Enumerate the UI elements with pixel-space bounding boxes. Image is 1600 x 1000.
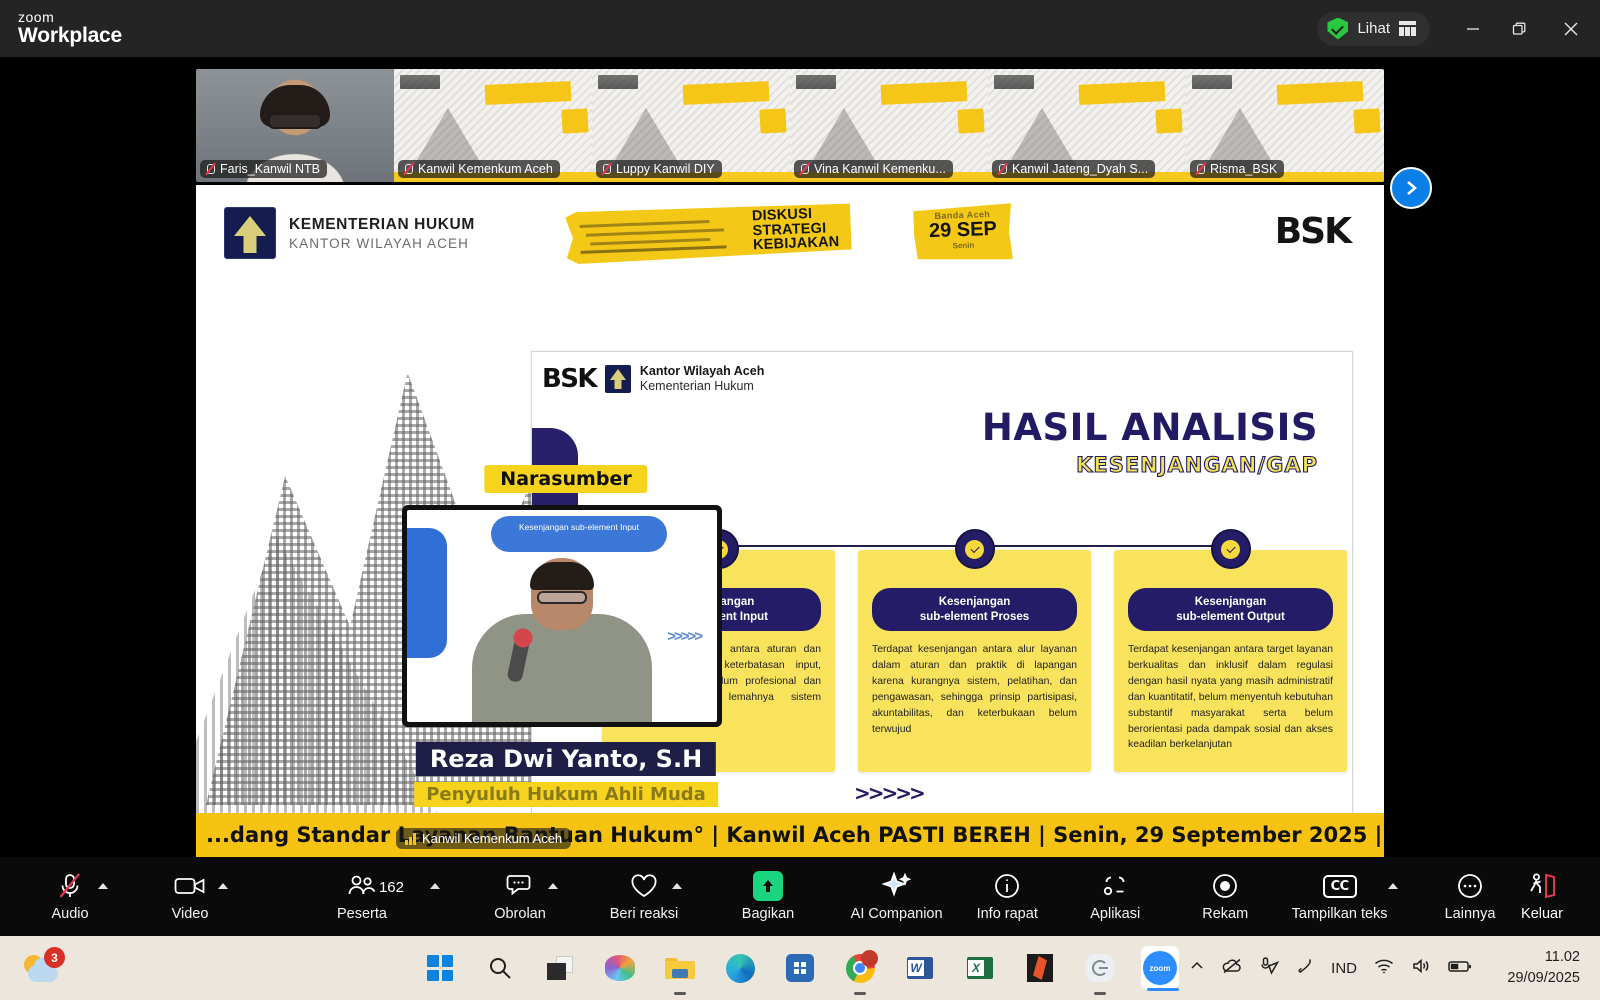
toolbar-label: Tampilkan teks xyxy=(1292,906,1388,922)
taskbar-excel-button[interactable]: X xyxy=(961,949,999,987)
toolbar-label: Peserta xyxy=(337,906,387,922)
word-icon: W xyxy=(907,954,933,982)
bsk-brand-mark: BSK xyxy=(1275,211,1350,252)
toolbar-button-apps[interactable]: Aplikasi xyxy=(1079,857,1151,936)
participant-name: Kanwil Jateng_Dyah S... xyxy=(1012,162,1148,176)
presenter-overlay: Narasumber Kesenjangan sub-element Input… xyxy=(396,457,736,857)
taskbar-zoom-button[interactable]: zoom xyxy=(1141,949,1179,987)
microphone-muted-icon xyxy=(204,163,216,176)
workplace-wordmark: Workplace xyxy=(18,25,122,47)
event-date-tape: Banda Aceh 29 SEP Senin xyxy=(913,203,1013,262)
next-page-arrow-icon[interactable] xyxy=(1390,167,1432,209)
closed-captions-icon: CC xyxy=(1323,871,1357,901)
apps-icon xyxy=(1101,871,1129,901)
chevron-up-icon[interactable] xyxy=(98,883,108,889)
pdf-icon xyxy=(1027,954,1053,982)
minimize-button[interactable] xyxy=(1450,0,1496,57)
view-layout-button[interactable]: Lihat xyxy=(1317,12,1430,46)
toolbar-button-record[interactable]: Rekam xyxy=(1189,857,1261,936)
garuda-emblem-icon xyxy=(224,207,276,259)
clock-time: 11.02 xyxy=(1507,947,1580,968)
participant-thumbnail[interactable]: Kanwil Jateng_Dyah S... xyxy=(988,69,1186,182)
participant-name-pill: Vina Kanwil Kemenku... xyxy=(794,160,953,178)
participant-name: Risma_BSK xyxy=(1210,162,1277,176)
participants-icon xyxy=(347,871,377,901)
toolbar-label: Keluar xyxy=(1521,906,1563,922)
toolbar-button-audio[interactable]: Audio xyxy=(34,857,106,936)
camera-icon xyxy=(174,871,206,901)
deck-title: HASIL ANALISIS xyxy=(982,406,1318,449)
shared-screen[interactable]: KEMENTERIAN HUKUM KANTOR WILAYAH ACEH DI… xyxy=(196,185,1384,857)
participant-name: Kanwil Kemenkum Aceh xyxy=(418,162,553,176)
card-heading-line1: Kesenjangan xyxy=(1136,595,1325,610)
gap-card: Kesenjangan sub-element Output Terdapat … xyxy=(1114,550,1347,772)
windows-logo-icon xyxy=(427,955,453,981)
zoom-toolbar: Audio Video Peserta 162 xyxy=(0,857,1600,936)
microphone-muted-icon xyxy=(1194,163,1206,176)
deck-org-line1: Kantor Wilayah Aceh xyxy=(640,364,764,379)
slide-side-shape xyxy=(407,528,447,658)
toolbar-button-meeting-info[interactable]: Info rapat xyxy=(971,857,1043,936)
toolbar-button-video[interactable]: Video xyxy=(154,857,226,936)
window-controls-group: Lihat xyxy=(1317,0,1600,57)
title-bar: zoom Workplace Lihat xyxy=(0,0,1600,57)
edge-icon xyxy=(726,954,755,983)
toolbar-button-ai-companion[interactable]: AI Companion xyxy=(856,857,937,936)
microphone-muted-icon xyxy=(57,871,83,901)
leave-meeting-icon xyxy=(1527,871,1557,901)
taskbar-copilot-button[interactable] xyxy=(601,949,639,987)
toolbar-button-reactions[interactable]: Beri reaksi xyxy=(608,857,680,936)
card-heading-line2: sub-element Output xyxy=(1136,610,1325,625)
taskbar-search-button[interactable] xyxy=(481,949,519,987)
inner-slide-caption: Kesenjangan sub-element Input xyxy=(491,516,667,552)
card-body-text: Terdapat kesenjangan antara target layan… xyxy=(1128,642,1333,753)
view-label: Lihat xyxy=(1357,20,1390,37)
chat-bubble-icon xyxy=(506,871,534,901)
deck-org-text: Kantor Wilayah Aceh Kementerian Hukum xyxy=(640,364,764,394)
deck-bsk-logo: BSK xyxy=(542,364,596,394)
taskbar-store-button[interactable] xyxy=(781,949,819,987)
toolbar-label: Aplikasi xyxy=(1090,906,1140,922)
participant-thumbnail[interactable]: Luppy Kanwil DIY xyxy=(592,69,790,182)
event-title-text: DISKUSI STRATEGI KEBIJAKAN xyxy=(752,206,840,254)
more-ellipsis-icon xyxy=(1456,871,1484,901)
zoom-icon: zoom xyxy=(1141,946,1179,990)
toolbar-button-participants[interactable]: Peserta 162 xyxy=(326,857,398,936)
participant-thumbnail[interactable]: Risma_BSK xyxy=(1186,69,1384,182)
deck-org-line2: Kementerian Hukum xyxy=(640,379,764,394)
info-icon xyxy=(993,871,1021,901)
toolbar-label: Rekam xyxy=(1202,906,1248,922)
toolbar-button-captions[interactable]: CC Tampilkan teks xyxy=(1297,857,1382,936)
folder-icon xyxy=(665,956,695,980)
card-body-text: Terdapat kesenjangan antara alur layanan… xyxy=(872,642,1077,737)
heart-icon xyxy=(630,871,658,901)
taskbar-word-button[interactable]: W xyxy=(901,949,939,987)
shield-check-icon xyxy=(1327,18,1348,40)
participant-name-pill: Kanwil Jateng_Dyah S... xyxy=(992,160,1155,178)
toolbar-label: Video xyxy=(172,906,209,922)
search-icon xyxy=(487,955,513,981)
screen-sharer-pill: Kanwil Kemenkum Aceh xyxy=(396,828,571,849)
zoom-wordmark: zoom xyxy=(18,10,122,25)
view-layout-icon xyxy=(1399,21,1416,36)
taskbar-pdf-button[interactable] xyxy=(1021,949,1059,987)
garuda-emblem-icon xyxy=(605,365,631,393)
record-icon xyxy=(1211,871,1239,901)
system-tray: IND xyxy=(1189,957,1472,980)
copilot-icon xyxy=(605,955,635,981)
card-heading-line1: Kesenjangan xyxy=(880,595,1069,610)
participant-name-pill: Luppy Kanwil DIY xyxy=(596,160,722,178)
participant-name: Luppy Kanwil DIY xyxy=(616,162,715,176)
toolbar-label: Beri reaksi xyxy=(610,906,679,922)
task-view-icon xyxy=(547,956,573,980)
chrome-icon xyxy=(846,954,875,983)
broadcast-ticker: ...dang Standar Layanan Bantuan Hukum° |… xyxy=(196,813,1384,857)
chevron-up-icon[interactable] xyxy=(548,883,558,889)
zoom-meeting-window: zoom Workplace Lihat xyxy=(0,0,1600,1000)
presenter-title: Penyuluh Hukum Ahli Muda xyxy=(414,782,718,807)
ministry-logo-text: KEMENTERIAN HUKUM KANTOR WILAYAH ACEH xyxy=(289,216,475,251)
microphone-muted-icon xyxy=(996,163,1008,176)
inner-chevrons: >>>>> xyxy=(667,628,701,645)
card-marker-icon xyxy=(955,529,995,569)
presenter-name: Reza Dwi Yanto, S.H xyxy=(416,742,716,776)
taskbar-file-explorer-button[interactable] xyxy=(661,949,699,987)
presenter-role-tag: Narasumber xyxy=(484,465,647,493)
chevron-up-icon[interactable] xyxy=(672,883,682,889)
participant-name-pill: Kanwil Kemenkum Aceh xyxy=(398,160,560,178)
card-heading: Kesenjangan sub-element Proses xyxy=(872,588,1077,631)
chevrons-decoration: >>>>> xyxy=(854,781,923,805)
participant-thumbnail[interactable]: Faris_Kanwil NTB xyxy=(196,69,394,182)
gap-card: Kesenjangan sub-element Proses Terdapat … xyxy=(858,550,1091,772)
show-hidden-icons-chevron[interactable] xyxy=(1189,958,1205,979)
location-icon[interactable] xyxy=(1259,957,1279,980)
toolbar-button-chat[interactable]: Obrolan xyxy=(484,857,556,936)
taskbar-task-view-button[interactable] xyxy=(541,949,579,987)
restore-button[interactable] xyxy=(1496,0,1542,57)
clock-date: 29/09/2025 xyxy=(1507,968,1580,989)
share-screen-icon xyxy=(753,871,783,901)
sparkle-icon xyxy=(882,871,912,901)
taskbar-edge-button[interactable] xyxy=(721,949,759,987)
card-heading: Kesenjangan sub-element Output xyxy=(1128,588,1333,631)
grammarly-icon xyxy=(1086,954,1114,982)
screen-sharer-name: Kanwil Kemenkum Aceh xyxy=(422,831,562,846)
presenter-figure xyxy=(467,557,657,722)
decorative-scribble xyxy=(579,216,730,254)
taskbar-app-icons: W X xyxy=(421,949,1179,987)
battery-icon[interactable] xyxy=(1448,959,1472,978)
participant-name-pill: Risma_BSK xyxy=(1190,160,1284,178)
toolbar-button-share[interactable]: Bagikan xyxy=(732,857,804,936)
toolbar-label: AI Companion xyxy=(851,906,943,922)
meeting-stage: Faris_Kanwil NTB Kanwil Kemenkum Aceh xyxy=(0,57,1600,857)
pen-icon[interactable] xyxy=(1296,957,1314,980)
presenter-video-frame: Kesenjangan sub-element Input >>>>> xyxy=(402,505,722,727)
taskbar-start-button[interactable] xyxy=(421,949,459,987)
card-marker-icon xyxy=(1211,529,1251,569)
participant-thumbnail[interactable]: Kanwil Kemenkum Aceh xyxy=(394,69,592,182)
zoom-workplace-logo: zoom Workplace xyxy=(18,10,122,47)
toolbar-label: Obrolan xyxy=(494,906,546,922)
chevron-up-icon[interactable] xyxy=(430,883,440,889)
weather-icon: 3 xyxy=(22,951,64,985)
chevron-up-icon[interactable] xyxy=(218,883,228,889)
windows-taskbar: 3 xyxy=(0,936,1600,1000)
notification-badge: 3 xyxy=(44,947,65,968)
zoom-wordmark: zoom xyxy=(1143,951,1177,985)
taskbar-grammarly-button[interactable] xyxy=(1081,949,1119,987)
deck-header: BSK Kantor Wilayah Aceh Kementerian Huku… xyxy=(542,364,764,394)
participant-name-pill: Faris_Kanwil NTB xyxy=(200,160,327,178)
participant-thumbnail[interactable]: Vina Kanwil Kemenku... xyxy=(790,69,988,182)
excel-icon: X xyxy=(967,954,993,982)
input-language[interactable]: IND xyxy=(1331,960,1357,977)
wifi-icon[interactable] xyxy=(1374,958,1394,979)
volume-icon[interactable] xyxy=(1411,958,1431,979)
ministry-name: KEMENTERIAN HUKUM xyxy=(289,216,475,234)
cc-label: CC xyxy=(1323,875,1357,898)
deck-subtitle: KESENJANGAN/GAP xyxy=(1076,453,1318,477)
chevron-up-icon[interactable] xyxy=(1388,883,1398,889)
ministry-logo: KEMENTERIAN HUKUM KANTOR WILAYAH ACEH xyxy=(224,207,475,259)
participant-name: Vina Kanwil Kemenku... xyxy=(814,162,946,176)
regional-office-name: KANTOR WILAYAH ACEH xyxy=(289,236,475,251)
ticker-text: ...dang Standar Layanan Bantuan Hukum° |… xyxy=(196,823,1384,847)
microphone-muted-icon xyxy=(600,163,612,176)
presenter-video-feed: Kesenjangan sub-element Input >>>>> xyxy=(407,510,717,722)
taskbar-chrome-button[interactable] xyxy=(841,949,879,987)
participant-name: Faris_Kanwil NTB xyxy=(220,162,320,176)
microphone-muted-icon xyxy=(798,163,810,176)
taskbar-weather-widget[interactable]: 3 xyxy=(22,951,64,985)
toolbar-label: Audio xyxy=(51,906,88,922)
onedrive-offline-icon[interactable] xyxy=(1222,958,1242,979)
toolbar-button-leave[interactable]: Keluar xyxy=(1506,857,1578,936)
card-heading-line2: sub-element Proses xyxy=(880,610,1069,625)
microphone-muted-icon xyxy=(402,163,414,176)
participant-thumbnail-strip[interactable]: Faris_Kanwil NTB Kanwil Kemenkum Aceh xyxy=(196,69,1384,182)
toolbar-label: Info rapat xyxy=(977,906,1038,922)
taskbar-clock[interactable]: 11.02 29/09/2025 xyxy=(1507,947,1580,989)
participants-count: 162 xyxy=(379,879,404,896)
audio-bars-icon xyxy=(405,833,416,845)
toolbar-label: Lainnya xyxy=(1445,906,1496,922)
toolbar-label: Bagikan xyxy=(742,906,794,922)
toolbar-button-more[interactable]: Lainnya xyxy=(1434,857,1506,936)
close-button[interactable] xyxy=(1542,0,1600,57)
store-icon xyxy=(786,954,814,982)
deck-title-block: HASIL ANALISIS KESENJANGAN/GAP xyxy=(982,406,1318,477)
